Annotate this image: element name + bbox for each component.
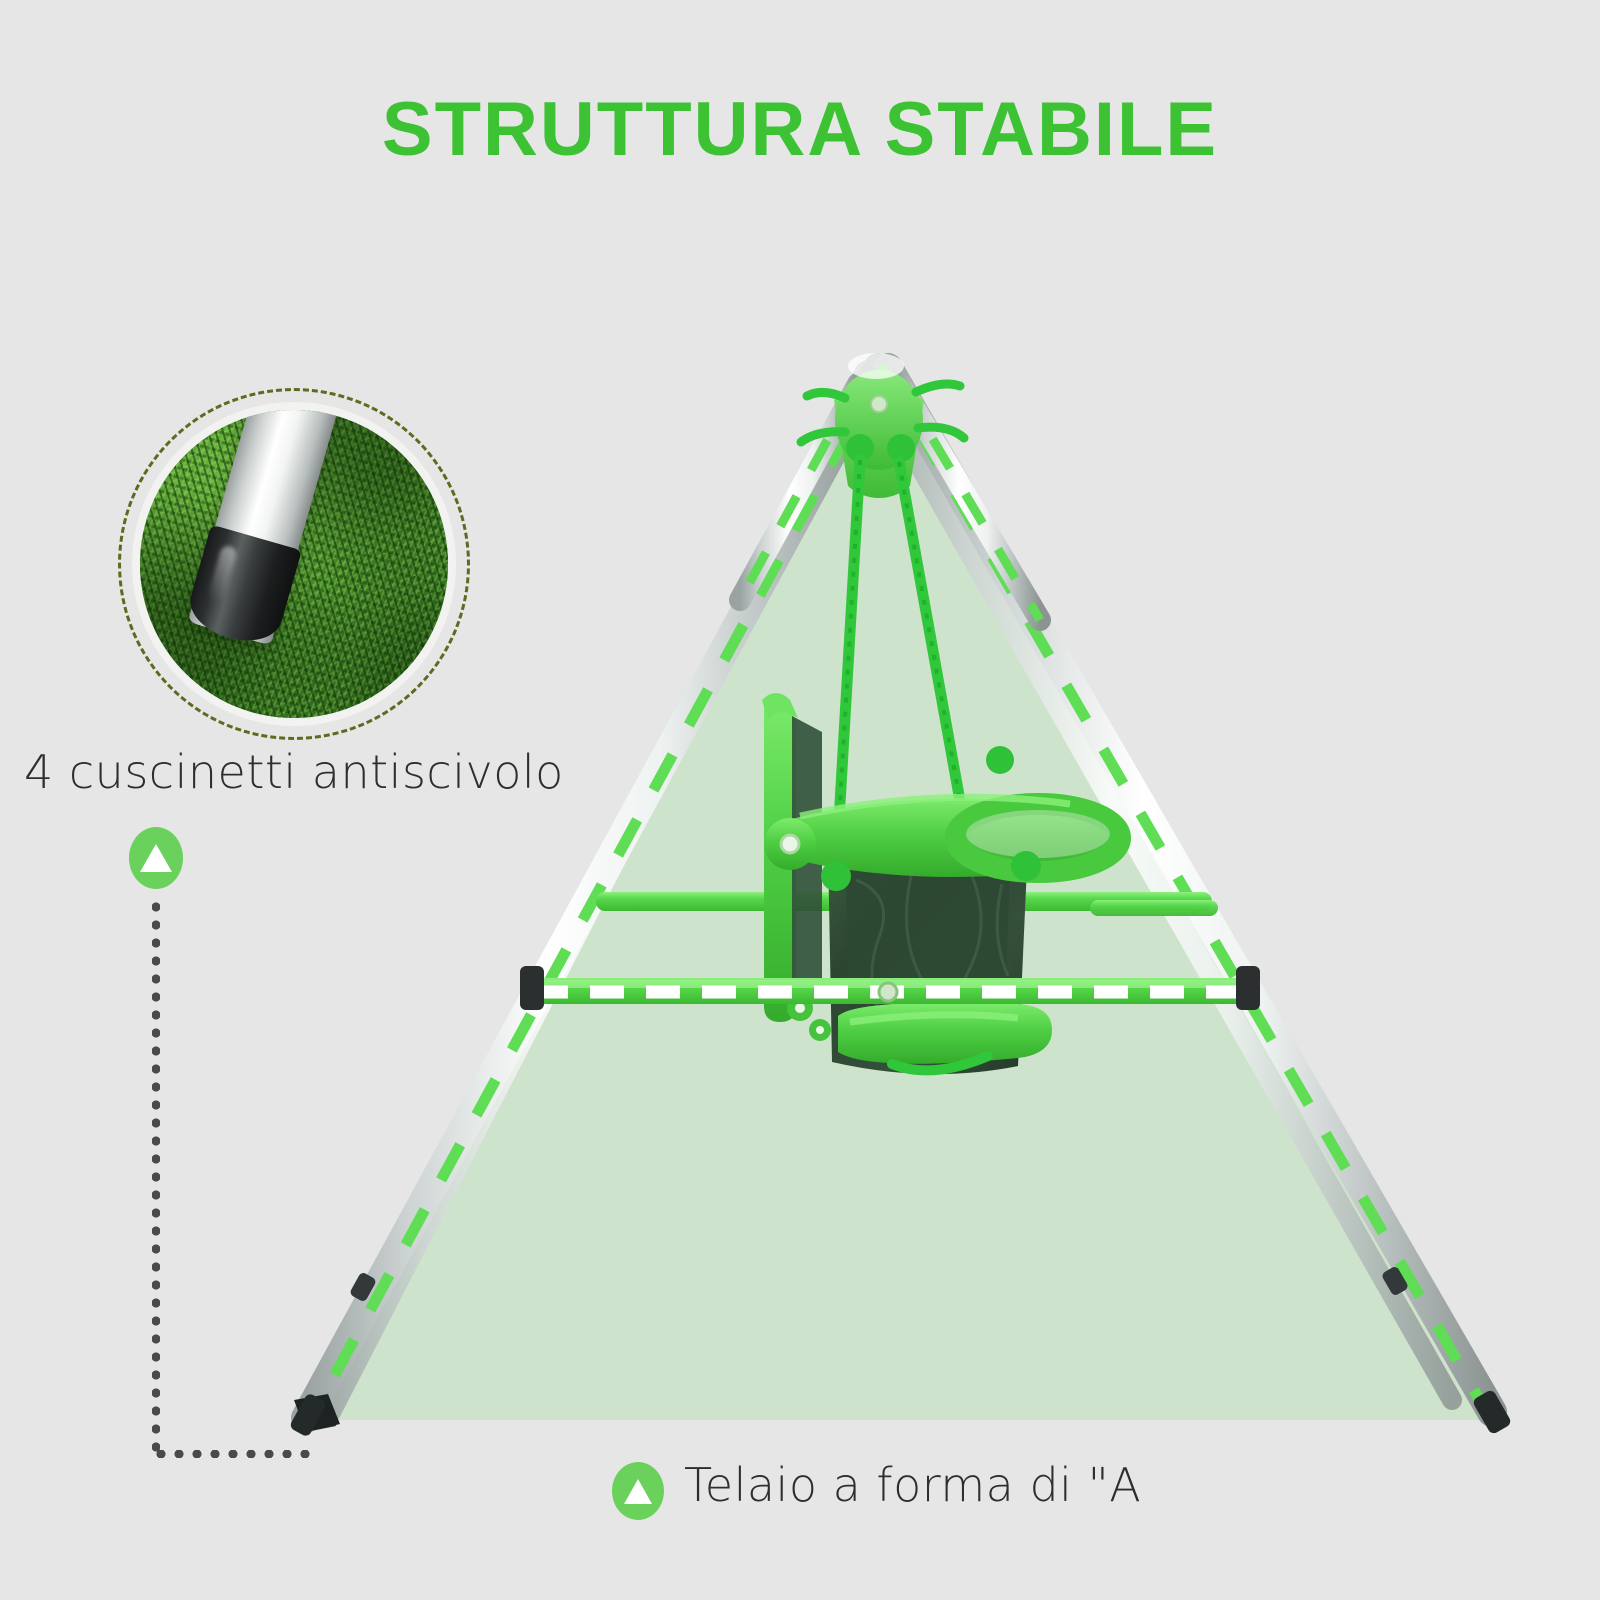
product-feature-graphic: STRUTTURA STABILE [0, 0, 1600, 1600]
inset-photo [140, 410, 448, 718]
feature-badge-anti-slip-pads [129, 827, 183, 889]
leader-line-horizontal [152, 1450, 314, 1458]
feature-label-anti-slip-pads: 4 cuscinetti antiscivolo [24, 745, 664, 799]
triangle-icon [624, 1479, 652, 1504]
leader-line-vertical [152, 898, 160, 1458]
side-support-bar [1090, 900, 1218, 916]
anti-slip-foot-inset [118, 388, 470, 740]
feature-label-a-frame: Telaio a forma di "A [684, 1458, 1141, 1512]
swing-set-illustration [0, 0, 1600, 1600]
feature-badge-a-frame [612, 1462, 664, 1520]
triangle-icon [140, 844, 172, 872]
